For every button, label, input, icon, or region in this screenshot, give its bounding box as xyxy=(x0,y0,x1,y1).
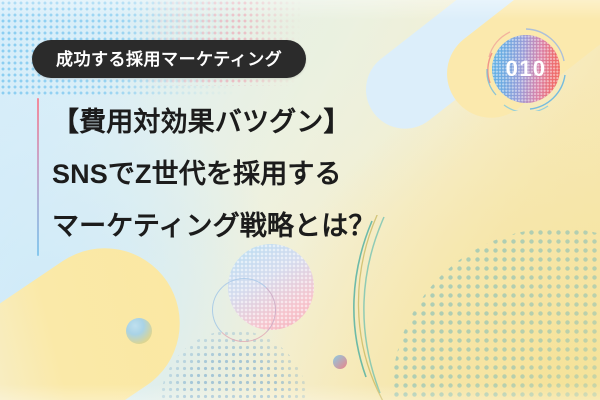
headline-line-1: 【費用対効果バツグン】 xyxy=(52,96,452,148)
number-badge: 010 xyxy=(484,27,568,111)
headline-block: 【費用対効果バツグン】 SNSでZ世代を採用する マーケティング戦略とは？ xyxy=(52,96,452,252)
category-tag: 成功する採用マーケティング xyxy=(32,40,306,78)
badge-number-text: 010 xyxy=(492,35,560,103)
headline-accent-line xyxy=(37,98,39,256)
small-gradient-ball-decoration xyxy=(126,318,152,344)
tiny-gradient-ball-decoration xyxy=(333,355,347,369)
outline-ring-decoration xyxy=(212,278,276,342)
category-tag-label: 成功する採用マーケティング xyxy=(56,51,282,68)
banner-canvas: 010 成功する採用マーケティング 【費用対効果バツグン】 SNSでZ世代を採用… xyxy=(0,0,600,400)
headline-line-2: SNSでZ世代を採用する xyxy=(52,148,452,200)
headline-line-3: マーケティング戦略とは？ xyxy=(52,200,452,252)
